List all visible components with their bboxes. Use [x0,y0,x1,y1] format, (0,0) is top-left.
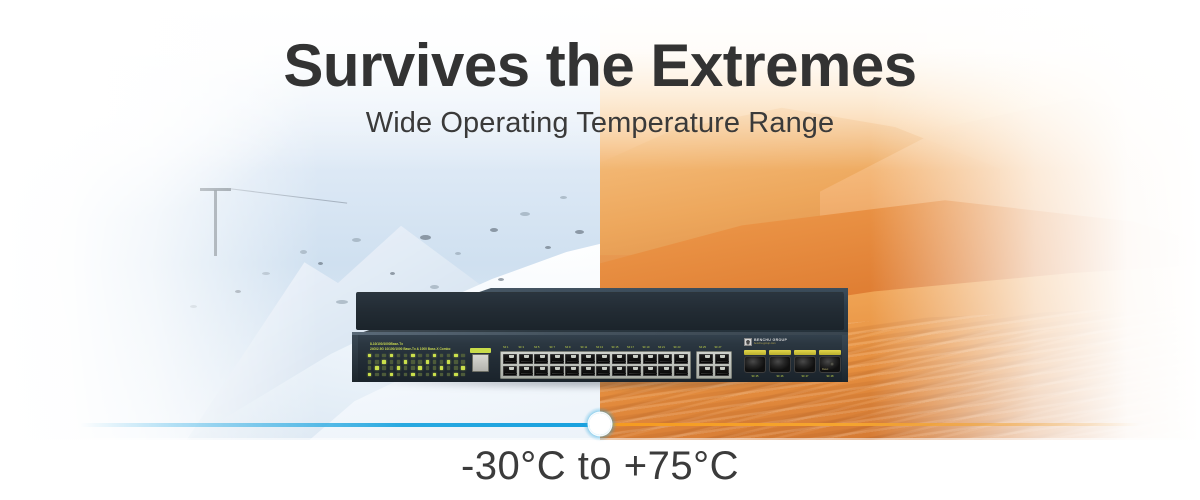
snow-rock [545,246,551,249]
led-indicator [461,360,464,363]
product-feature-banner: Survives the Extremes Wide Operating Tem… [0,0,1200,500]
rj45-port [643,354,657,364]
switch-front-inset [356,292,844,330]
led-indicator [433,373,436,376]
led-indicator [390,373,393,376]
rj45-port [565,354,579,364]
led-indicator [375,360,378,363]
rj45-port [534,366,548,376]
sfp-opening [794,356,816,373]
led-indicator [397,373,400,376]
temperature-range-value: -30°C to +75°C [0,444,1200,489]
reset-label: Reset [822,368,828,371]
led-indicator [375,373,378,376]
rj45-port [658,354,672,364]
rj45-port [627,354,641,364]
page-subtitle: Wide Operating Temperature Range [0,107,1200,140]
rj45-port-bank [696,351,732,379]
led-indicator [454,360,457,363]
rj45-port [550,366,564,376]
rj45-port [658,366,672,376]
rj45-port [519,366,533,376]
headline-block: Survives the Extremes Wide Operating Tem… [0,34,1200,140]
sfp-cage: SF 25 [744,350,766,374]
led-indicator [404,360,407,363]
snow-rock [390,272,395,275]
led-indicator [418,354,421,357]
sfp-cage: SF 26 [769,350,791,374]
led-indicator [454,354,457,357]
led-indicator [382,354,385,357]
led-indicator [454,366,457,369]
led-indicator [411,366,414,369]
port-number-label: SF 23 [674,346,681,349]
snow-rock [262,272,270,275]
port-number-label: SF 9 [565,346,570,349]
rj45-port [612,354,626,364]
rj45-port-pair [519,354,533,376]
snow-rock [352,238,361,242]
led-indicator [404,354,407,357]
snow-rock [498,278,504,281]
rj45-port-bank [500,351,691,379]
led-indicator [454,373,457,376]
led-indicator [447,360,450,363]
port-number-label: SF 19 [643,346,650,349]
snow-rock [420,235,431,240]
led-indicator [411,373,414,376]
led-indicator [418,366,421,369]
rj45-port [565,366,579,376]
rj45-port [643,366,657,376]
rj45-port [519,354,533,364]
led-indicator [375,366,378,369]
led-indicator [368,354,371,357]
console-port [472,354,489,372]
rj45-port [596,354,610,364]
switch-led-indicator-grid [368,354,469,378]
sfp-latch [794,350,816,355]
rj45-port [550,354,564,364]
sfp-latch [819,350,841,355]
switch-rack-ear-left [352,335,358,382]
led-indicator [447,354,450,357]
port-number-label: SF 5 [534,346,539,349]
rj45-port [674,366,688,376]
led-indicator [397,360,400,363]
sfp-opening [744,356,766,373]
rj45-port [581,354,595,364]
led-indicator [368,366,371,369]
page-title: Survives the Extremes [0,34,1200,97]
hot-range-track[interactable] [600,423,1140,426]
sfp-cage: SF 27 [794,350,816,374]
led-indicator [440,360,443,363]
rj45-port [581,366,595,376]
led-indicator [368,373,371,376]
switch-rack-ear-right [842,335,848,382]
led-indicator [447,373,450,376]
port-number-label: SF 21 [658,346,665,349]
snow-rock [520,212,530,216]
led-indicator [426,360,429,363]
port-number-label: SF 11 [581,346,588,349]
slider-knob[interactable] [589,413,611,435]
sfp-label: SF 26 [769,375,791,378]
snow-rock [490,228,498,232]
snow-rock [300,250,307,254]
rj45-port [715,354,729,364]
led-indicator [390,354,393,357]
led-indicator [461,366,464,369]
led-indicator [433,354,436,357]
rj45-port [699,366,713,376]
led-indicator [447,366,450,369]
led-indicator [440,373,443,376]
network-switch-product-image: 8-10/100/1000Base-Tx 24G/2.5G 10/100/100… [352,288,848,392]
rj45-port-pair [503,354,517,376]
rj45-port [534,354,548,364]
rj45-port [612,366,626,376]
led-indicator [404,373,407,376]
port-number-label: SF 17 [627,346,634,349]
led-indicator [368,360,371,363]
rj45-port-pair [534,354,548,376]
port-number-label: SF 25 [699,346,706,349]
brand-logo-icon [744,338,752,346]
led-indicator [404,366,407,369]
port-number-label: SF 15 [612,346,619,349]
led-indicator [397,354,400,357]
led-indicator [390,366,393,369]
sfp-latch [769,350,791,355]
switch-brand-block: BENCHU GROUP benchu-group.com [744,338,787,346]
rj45-port [503,366,517,376]
led-indicator [433,360,436,363]
brand-url: benchu-group.com [754,343,787,345]
led-indicator [440,354,443,357]
rj45-port [627,366,641,376]
snow-rock [455,252,461,255]
rj45-port [674,354,688,364]
rj45-port-pair [612,354,626,376]
led-indicator [397,366,400,369]
port-number-label: SF 27 [715,346,722,349]
rj45-port [596,366,610,376]
snow-rock [235,290,241,293]
led-indicator [426,373,429,376]
port-number-label: SF 3 [519,346,524,349]
rj45-port-pair [674,354,688,376]
led-indicator [375,354,378,357]
snow-rock [560,196,567,199]
led-indicator [461,373,464,376]
sfp-latch [744,350,766,355]
led-indicator [440,366,443,369]
rj45-port-pair [596,354,610,376]
port-number-label: SF 13 [596,346,603,349]
rj45-port-pair [643,354,657,376]
rj45-port-pair [699,354,713,376]
snow-rock [318,262,323,265]
snow-rock [336,300,348,304]
led-indicator [382,366,385,369]
rj45-port-pair [550,354,564,376]
switch-silkscreen-line-1: 8-10/100/1000Base-Tx [370,342,403,347]
led-indicator [418,360,421,363]
console-port-cap [470,348,491,353]
port-number-label: SF 1 [503,346,508,349]
reset-button[interactable] [830,362,834,366]
led-indicator [411,354,414,357]
sfp-label: SF 25 [744,375,766,378]
rj45-port [699,354,713,364]
ski-lift-pole [214,190,217,256]
snow-rock [575,230,584,234]
rj45-port-pair [715,354,729,376]
port-number-label: SF 7 [550,346,555,349]
cold-range-track[interactable] [80,423,600,427]
rj45-port-pair [627,354,641,376]
sfp-label: SF 27 [794,375,816,378]
rj45-port-pair [658,354,672,376]
led-indicator [382,360,385,363]
led-indicator [411,360,414,363]
rj45-port-pair [581,354,595,376]
led-indicator [426,354,429,357]
sfp-label: SF 28 [819,375,841,378]
led-indicator [390,360,393,363]
snow-rock [190,305,197,308]
led-indicator [382,373,385,376]
rj45-port [503,354,517,364]
switch-silkscreen-line-2: 24G/2.5G 10/100/1000 Base-Tx & 1000 Base… [370,347,450,352]
rj45-port [715,366,729,376]
led-indicator [433,366,436,369]
led-indicator [418,373,421,376]
led-indicator [426,366,429,369]
rj45-port-pair [565,354,579,376]
sfp-opening [769,356,791,373]
led-indicator [461,354,464,357]
